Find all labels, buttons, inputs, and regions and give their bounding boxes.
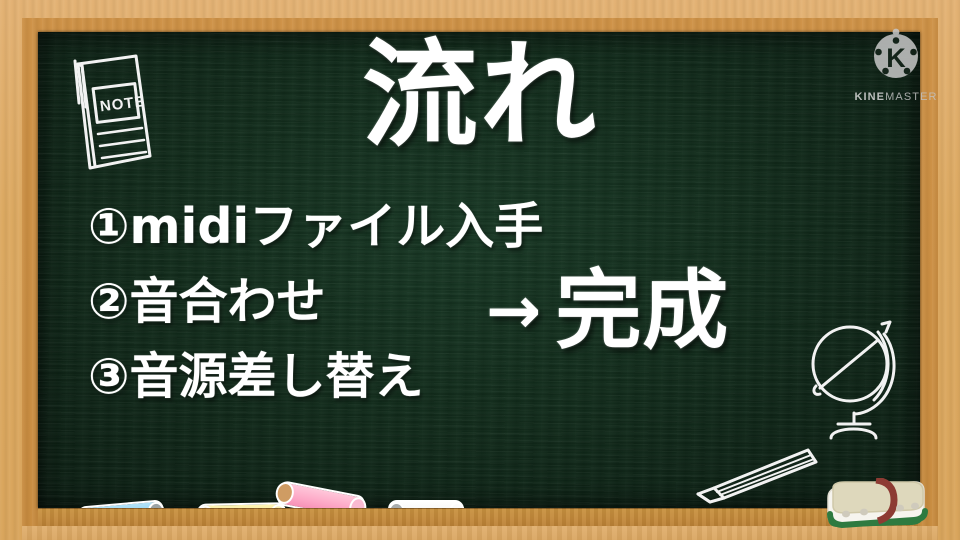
result-label: 完成 [555,268,729,354]
right-arrow-icon: → [486,278,541,344]
kinemaster-wordmark: KINEMASTER [844,91,948,103]
eraser-icon [822,478,928,533]
kinemaster-wordmark-light: MASTER [885,91,937,103]
notebook-icon: NOTE [62,48,158,179]
list-item-step-3: ③音源差し替え [88,352,543,401]
kinemaster-wordmark-bold: KINE [854,91,885,103]
chalk-ledge-front [22,526,938,540]
list-item-step-2: ②音合わせ [88,277,543,326]
slide-canvas: 流れ ①midiファイル入手 ②音合わせ ③音源差し替え → 完成 NOTE [0,0,960,540]
kinemaster-watermark: K KINEMASTER [844,24,948,103]
pencil-icon [690,442,820,509]
steps-list: ①midiファイル入手 ②音合わせ ③音源差し替え [88,202,543,427]
result-group: → 完成 [486,268,729,354]
globe-icon [798,312,910,445]
list-item-step-1: ①midiファイル入手 [88,202,543,251]
kinemaster-logo-letter: K [886,43,906,73]
kinemaster-logo-icon: K [866,24,926,84]
